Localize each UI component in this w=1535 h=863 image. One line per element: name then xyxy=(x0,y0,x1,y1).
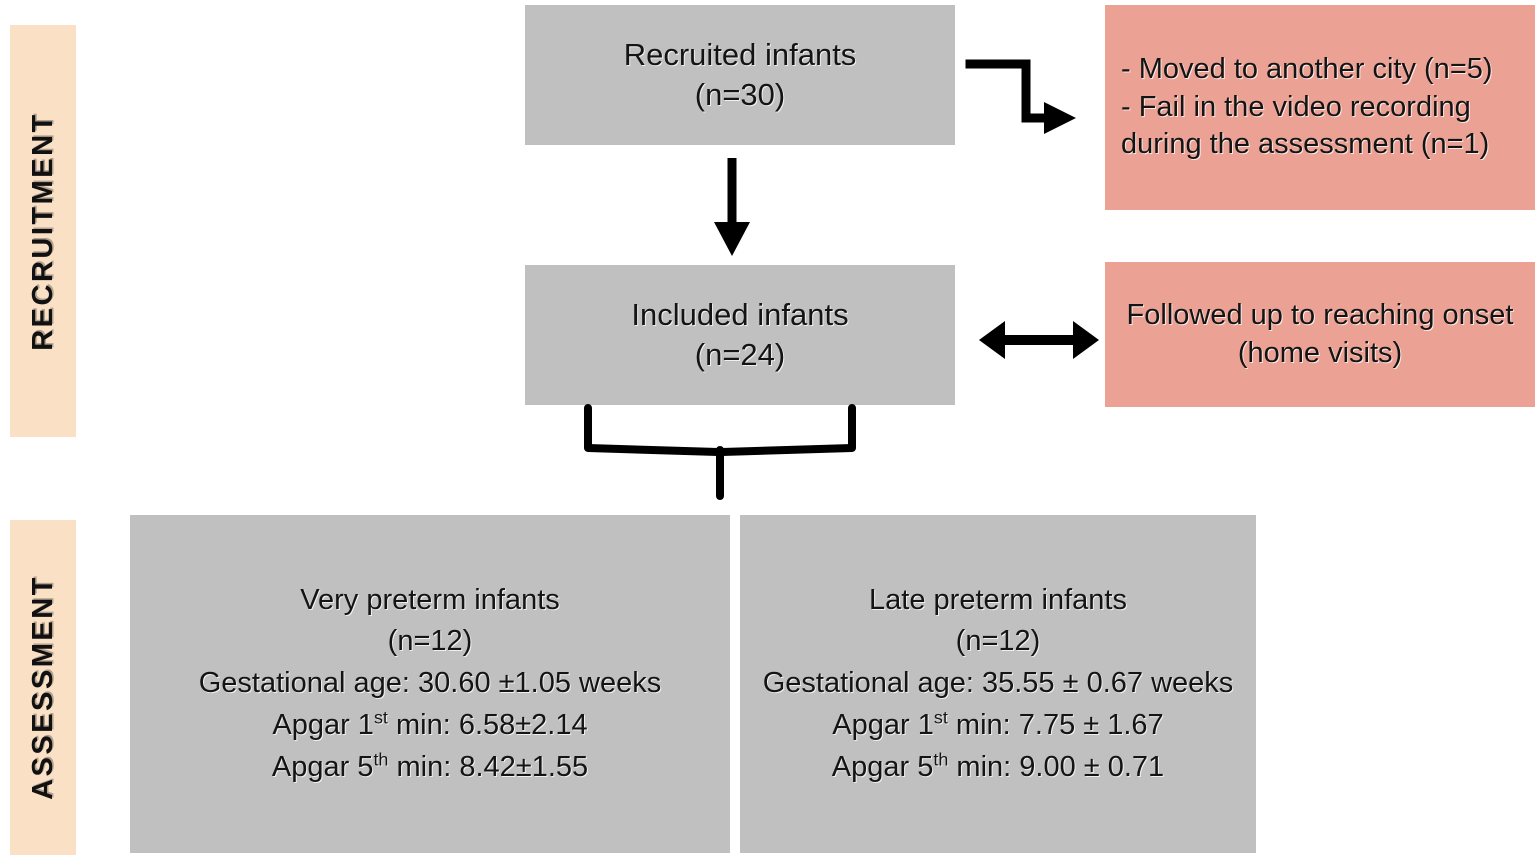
phase-label-assessment: ASSESSMENT xyxy=(27,575,60,800)
very-preterm-apgar1-label: Apgar 1 xyxy=(272,709,374,741)
connector-split-brace xyxy=(570,400,880,510)
node-recruited-infants: Recruited infants (n=30) xyxy=(525,5,955,145)
phase-label-recruitment: RECRUITMENT xyxy=(27,112,60,351)
node-exclusions: - Moved to another city (n=5) - Fail in … xyxy=(1105,5,1535,210)
node-included-title: Included infants xyxy=(631,295,848,335)
phase-band-recruitment: RECRUITMENT xyxy=(10,25,76,437)
node-very-preterm-infants: Very preterm infants (n=12) Gestational … xyxy=(130,515,730,853)
late-preterm-apgar-5min: Apgar 5th min: 9.00 ± 0.71 xyxy=(832,749,1164,787)
exclusion-reason-video-fail: - Fail in the video recording during the… xyxy=(1121,89,1519,164)
node-late-preterm-infants: Late preterm infants (n=12) Gestational … xyxy=(740,515,1256,853)
very-preterm-title: Very preterm infants xyxy=(300,582,560,620)
very-preterm-apgar-1min: Apgar 1st min: 6.58±2.14 xyxy=(272,707,587,745)
late-preterm-gestational-age: Gestational age: 35.55 ± 0.67 weeks xyxy=(763,665,1234,703)
phase-band-assessment: ASSESSMENT xyxy=(10,520,76,855)
flowchart-canvas: RECRUITMENT ASSESSMENT Recruited infants… xyxy=(0,0,1535,863)
node-recruited-count: (n=30) xyxy=(695,75,785,115)
very-preterm-apgar5-label: Apgar 5 xyxy=(272,751,374,783)
late-preterm-apgar5-value: min: 9.00 ± 0.71 xyxy=(948,751,1164,783)
late-preterm-apgar1-label: Apgar 1 xyxy=(832,709,934,741)
late-preterm-apgar-1min: Apgar 1st min: 7.75 ± 1.67 xyxy=(832,707,1163,745)
connector-down-arrow-recruited-to-included xyxy=(700,150,764,260)
late-preterm-apgar1-ordinal: st xyxy=(934,707,948,727)
connector-double-headed-arrow-included-to-followup xyxy=(975,315,1103,365)
very-preterm-apgar1-ordinal: st xyxy=(374,707,388,727)
exclusion-reason-moved: - Moved to another city (n=5) xyxy=(1121,51,1493,89)
node-followup-detail: (home visits) xyxy=(1238,335,1402,373)
very-preterm-apgar-5min: Apgar 5th min: 8.42±1.55 xyxy=(272,749,588,787)
connector-elbow-arrow-recruited-to-exclusions xyxy=(960,50,1080,140)
very-preterm-count: (n=12) xyxy=(388,623,473,661)
late-preterm-title: Late preterm infants xyxy=(869,582,1127,620)
late-preterm-count: (n=12) xyxy=(956,623,1041,661)
late-preterm-apgar1-value: min: 7.75 ± 1.67 xyxy=(948,709,1164,741)
node-included-infants: Included infants (n=24) xyxy=(525,265,955,405)
node-recruited-title: Recruited infants xyxy=(624,35,857,75)
very-preterm-apgar5-ordinal: th xyxy=(373,749,388,769)
late-preterm-apgar5-label: Apgar 5 xyxy=(832,751,934,783)
very-preterm-apgar5-value: min: 8.42±1.55 xyxy=(388,751,588,783)
node-followup-title: Followed up to reaching onset xyxy=(1127,297,1514,335)
late-preterm-apgar5-ordinal: th xyxy=(933,749,948,769)
node-followup: Followed up to reaching onset (home visi… xyxy=(1105,262,1535,407)
very-preterm-gestational-age: Gestational age: 30.60 ±1.05 weeks xyxy=(199,665,662,703)
very-preterm-apgar1-value: min: 6.58±2.14 xyxy=(388,709,588,741)
node-included-count: (n=24) xyxy=(695,335,785,375)
